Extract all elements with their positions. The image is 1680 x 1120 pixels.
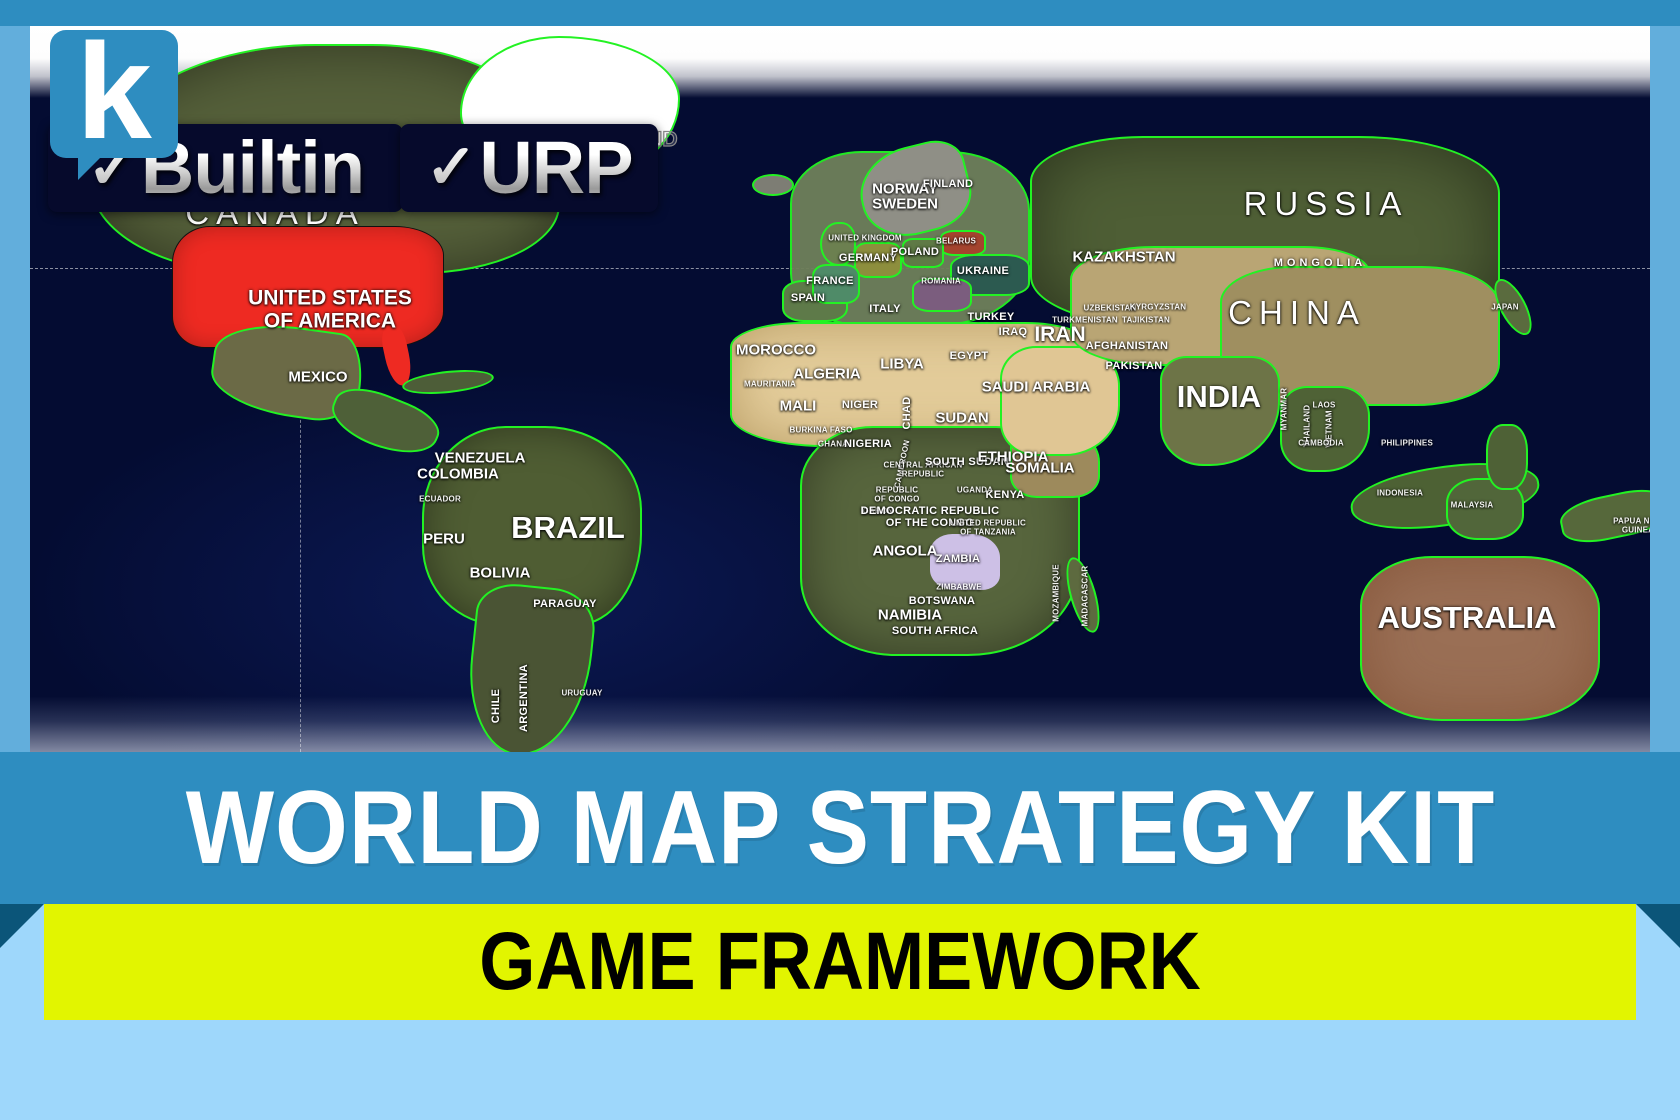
country-fill-poland (902, 238, 944, 268)
badge-urp[interactable]: ✓ URP (400, 124, 658, 212)
bottom-background (0, 1024, 1680, 1120)
subtitle-banner: GAME FRAMEWORK (44, 904, 1636, 1020)
country-fill-belarus (940, 230, 986, 256)
country-highlight-zambia[interactable] (930, 534, 1000, 590)
poster-canvas: CANADAGREENLANDUNITED STATESOF AMERICAME… (0, 0, 1680, 1120)
country-fill-france (812, 264, 860, 304)
poster-subtitle: GAME FRAMEWORK (479, 921, 1201, 1003)
country-fill-balkans (912, 278, 972, 312)
check-icon: ✓ (425, 137, 477, 199)
landmass-uk (820, 222, 856, 266)
country-fill-germany (854, 242, 902, 278)
brand-logo[interactable]: k (50, 30, 178, 158)
badge-urp-label: URP (479, 131, 632, 205)
frame-right-border (1650, 26, 1680, 752)
landmass-arabia (1000, 346, 1120, 456)
frame-left-border (0, 26, 30, 752)
ribbon-fold-left (0, 904, 44, 948)
subtitle-ribbon: GAME FRAMEWORK (0, 904, 1680, 1024)
landmass-australia (1360, 556, 1600, 721)
landmass-philippines (1486, 424, 1528, 490)
ribbon-fold-right (1636, 904, 1680, 948)
world-map[interactable]: CANADAGREENLANDUNITED STATESOF AMERICAME… (30, 26, 1650, 752)
title-banner: WORLD MAP STRATEGY KIT (0, 752, 1680, 904)
frame-top-border (0, 0, 1680, 26)
logo-letter: k (50, 30, 178, 158)
landmass-iceland (752, 174, 794, 196)
poster-title: WORLD MAP STRATEGY KIT (185, 776, 1494, 880)
landmass-southeast-asia (1280, 386, 1370, 472)
